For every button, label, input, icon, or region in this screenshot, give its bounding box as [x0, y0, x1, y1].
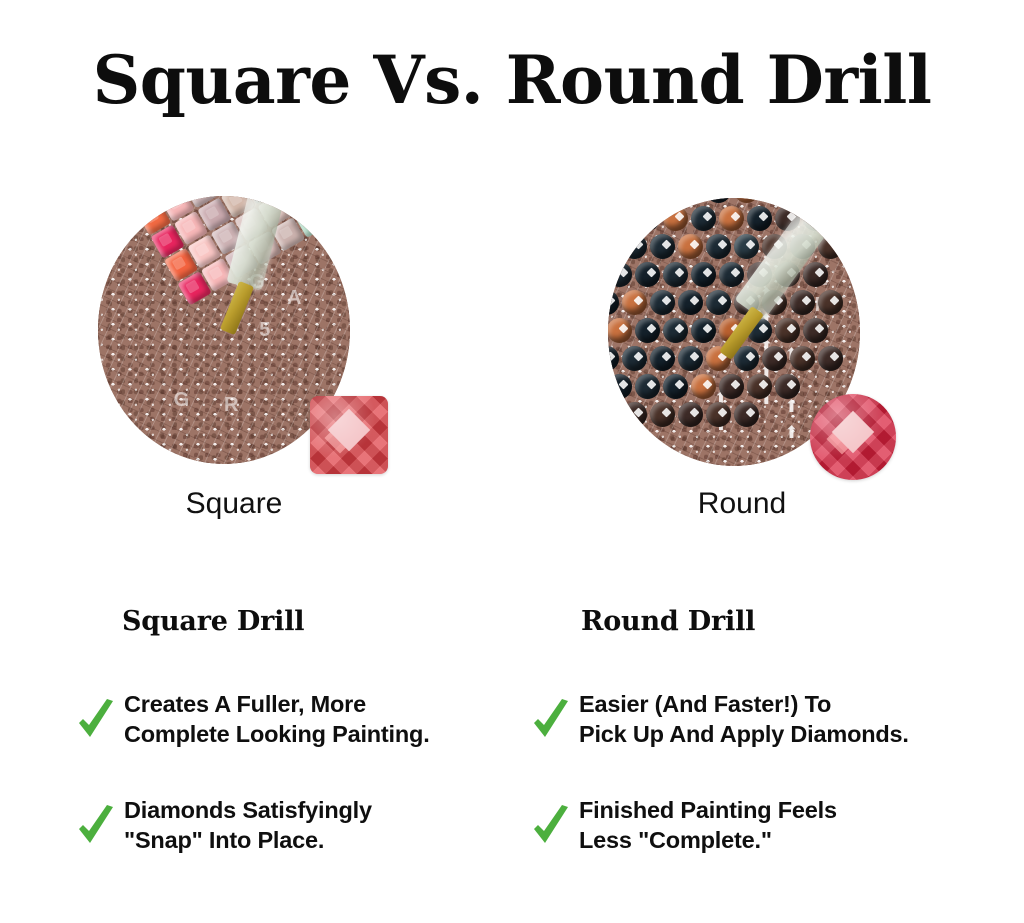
list-item-label: Diamonds Satisfyingly "Snap" Into Place. — [124, 796, 372, 856]
list-item-label: Easier (And Faster!) To Pick Up And Appl… — [579, 690, 909, 750]
square-drill-bullet-list: Creates A Fuller, More Complete Looking … — [76, 690, 496, 901]
list-item-label: Creates A Fuller, More Complete Looking … — [124, 690, 430, 750]
round-photo-caption: Round — [612, 487, 872, 521]
check-icon — [531, 803, 571, 849]
gem-sheen — [310, 396, 388, 474]
gem-sheen — [810, 394, 896, 480]
square-photo-caption: Square — [104, 487, 364, 521]
list-item: Finished Painting Feels Less "Complete." — [531, 796, 951, 856]
square-drill-photo-wrap: G A 5 G R — [98, 196, 366, 476]
square-drill-heading: Square Drill — [122, 606, 304, 637]
check-icon — [76, 803, 116, 849]
canvas-letter-mark: R — [224, 394, 238, 417]
round-drill-heading: Round Drill — [581, 606, 755, 637]
list-item: Creates A Fuller, More Complete Looking … — [76, 690, 496, 750]
canvas-letter-mark: G — [174, 389, 190, 412]
square-gem-swatch — [310, 396, 388, 474]
list-item: Diamonds Satisfyingly "Snap" Into Place. — [76, 796, 496, 856]
round-drill-bullet-list: Easier (And Faster!) To Pick Up And Appl… — [531, 690, 951, 901]
check-icon — [76, 697, 116, 743]
round-gem-swatch — [810, 394, 896, 480]
list-item-label: Finished Painting Feels Less "Complete." — [579, 796, 837, 856]
round-drill-photo-wrap: ⬆⬆⬆⬆⬆⬆⬆ ⬆⬆⬆⬆⬆ ⬆⬆ E F — [608, 198, 876, 478]
list-item: Easier (And Faster!) To Pick Up And Appl… — [531, 690, 951, 750]
page-title: Square Vs. Round Drill — [0, 46, 1024, 115]
check-icon — [531, 697, 571, 743]
